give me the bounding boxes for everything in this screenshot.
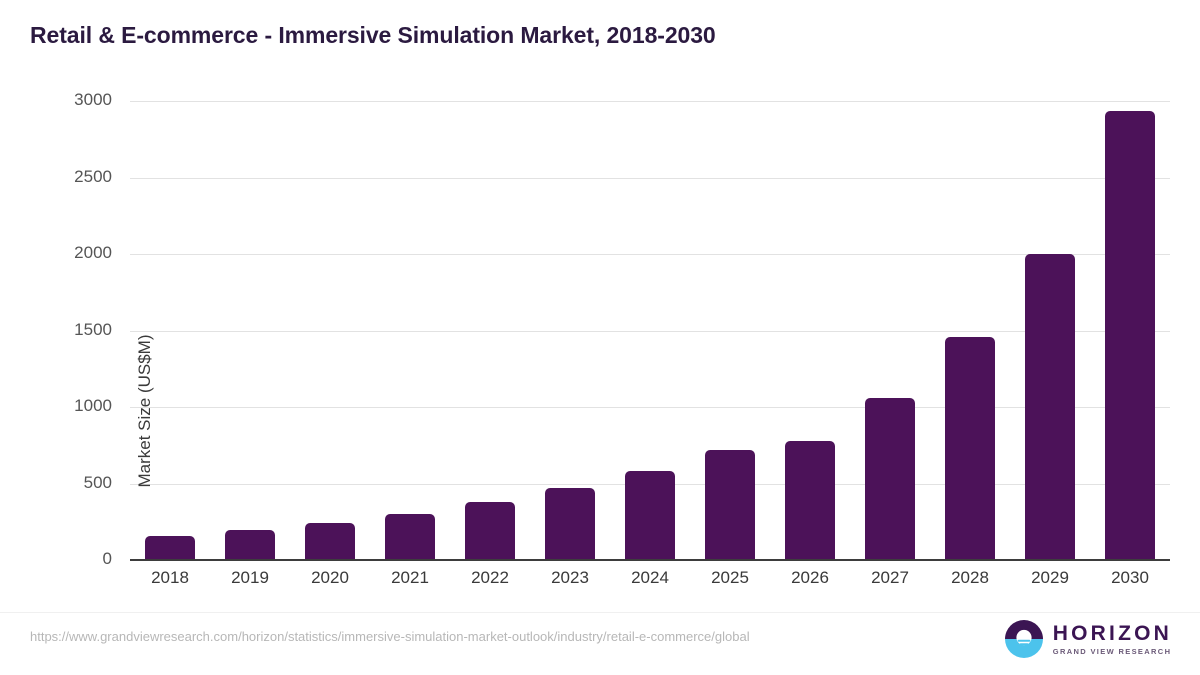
x-axis-tick-label: 2028	[930, 568, 1010, 588]
x-axis-tick-label: 2025	[690, 568, 770, 588]
x-axis-tick-label: 2026	[770, 568, 850, 588]
bar[interactable]	[465, 502, 515, 560]
logo-tagline: GRAND VIEW RESEARCH	[1053, 648, 1172, 656]
x-axis-line	[130, 559, 1170, 561]
bar[interactable]	[225, 530, 275, 560]
bar[interactable]	[1105, 111, 1155, 560]
y-axis-tick-label: 2500	[0, 167, 112, 187]
gridline	[130, 101, 1170, 102]
x-axis-tick-label: 2019	[210, 568, 290, 588]
plot-area: Market Size (US$M)	[130, 101, 1170, 560]
x-axis-tick-label: 2022	[450, 568, 530, 588]
x-axis-tick-label: 2024	[610, 568, 690, 588]
bar[interactable]	[305, 523, 355, 560]
gridline	[130, 331, 1170, 332]
x-axis-tick-label: 2027	[850, 568, 930, 588]
x-axis-tick-label: 2029	[1010, 568, 1090, 588]
x-axis-tick-label: 2018	[130, 568, 210, 588]
bar[interactable]	[545, 488, 595, 560]
y-axis-tick-label: 1000	[0, 396, 112, 416]
x-axis-tick-label: 2023	[530, 568, 610, 588]
y-axis-tick-label: 1500	[0, 320, 112, 340]
bar[interactable]	[625, 471, 675, 561]
gridline	[130, 407, 1170, 408]
gridline	[130, 178, 1170, 179]
logo-text: HORIZON GRAND VIEW RESEARCH	[1053, 623, 1172, 656]
source-url[interactable]: https://www.grandviewresearch.com/horizo…	[30, 629, 750, 644]
gridline	[130, 254, 1170, 255]
logo-wordmark: HORIZON	[1053, 623, 1172, 644]
page-title: Retail & E-commerce - Immersive Simulati…	[30, 22, 716, 49]
bar[interactable]	[1025, 254, 1075, 560]
bar[interactable]	[945, 337, 995, 560]
y-axis-tick-label: 0	[0, 549, 112, 569]
bar[interactable]	[705, 450, 755, 560]
x-axis-tick-label: 2030	[1090, 568, 1170, 588]
x-axis-tick-label: 2020	[290, 568, 370, 588]
bar[interactable]	[785, 441, 835, 560]
horizon-logo[interactable]: HORIZON GRAND VIEW RESEARCH	[1004, 618, 1172, 660]
chart-page: Retail & E-commerce - Immersive Simulati…	[0, 0, 1200, 675]
x-axis-tick-label: 2021	[370, 568, 450, 588]
y-axis-tick-label: 3000	[0, 90, 112, 110]
footer-divider	[0, 612, 1200, 613]
y-axis-tick-label: 500	[0, 473, 112, 493]
bar[interactable]	[385, 514, 435, 560]
horizon-logo-icon	[1004, 619, 1044, 659]
bar[interactable]	[865, 398, 915, 560]
y-axis-tick-label: 2000	[0, 243, 112, 263]
